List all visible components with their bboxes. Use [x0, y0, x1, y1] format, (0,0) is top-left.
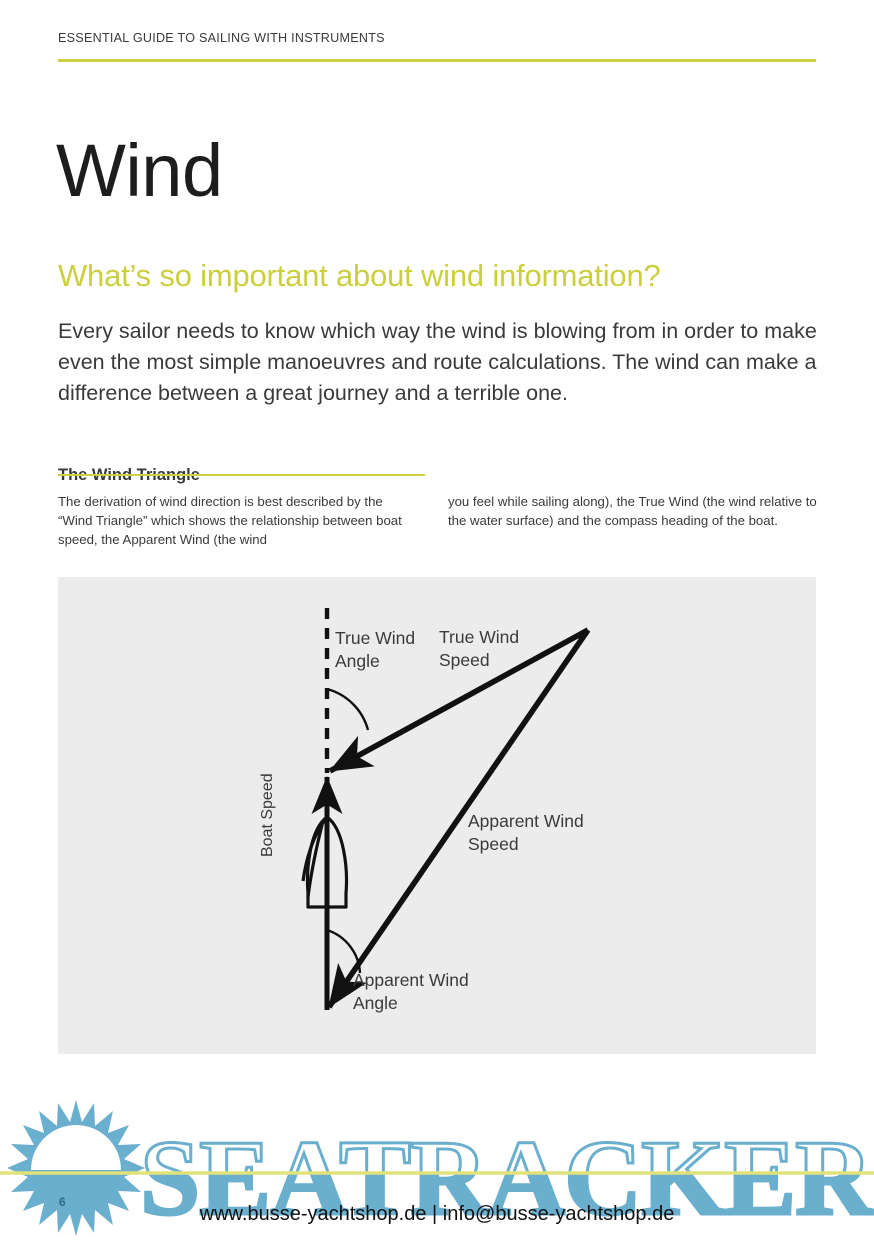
running-head: ESSENTIAL GUIDE TO SAILING WITH INSTRUME…	[58, 31, 385, 45]
body-column-right: you feel while sailing along), the True …	[448, 492, 818, 530]
true-wind-angle-arc	[327, 689, 368, 730]
label-apparent-wind-angle: Apparent Wind Angle	[353, 969, 469, 1015]
subsection-rule	[58, 474, 425, 476]
body-column-left: The derivation of wind direction is best…	[58, 492, 408, 549]
label-true-wind-speed: True Wind Speed	[439, 626, 519, 672]
label-true-wind-angle: True Wind Angle	[335, 627, 415, 673]
intro-paragraph: Every sailor needs to know which way the…	[58, 316, 823, 409]
label-apparent-wind-speed: Apparent Wind Speed	[468, 810, 584, 856]
section-heading: What’s so important about wind informati…	[58, 258, 661, 294]
label-boat-speed: Boat Speed	[256, 773, 279, 857]
wind-triangle-diagram: True Wind Angle True Wind Speed Apparent…	[58, 577, 816, 1054]
page-title: Wind	[56, 134, 223, 208]
footer-url: www.busse-yachtshop.de | info@busse-yach…	[0, 1203, 874, 1226]
header-rule	[58, 59, 816, 62]
